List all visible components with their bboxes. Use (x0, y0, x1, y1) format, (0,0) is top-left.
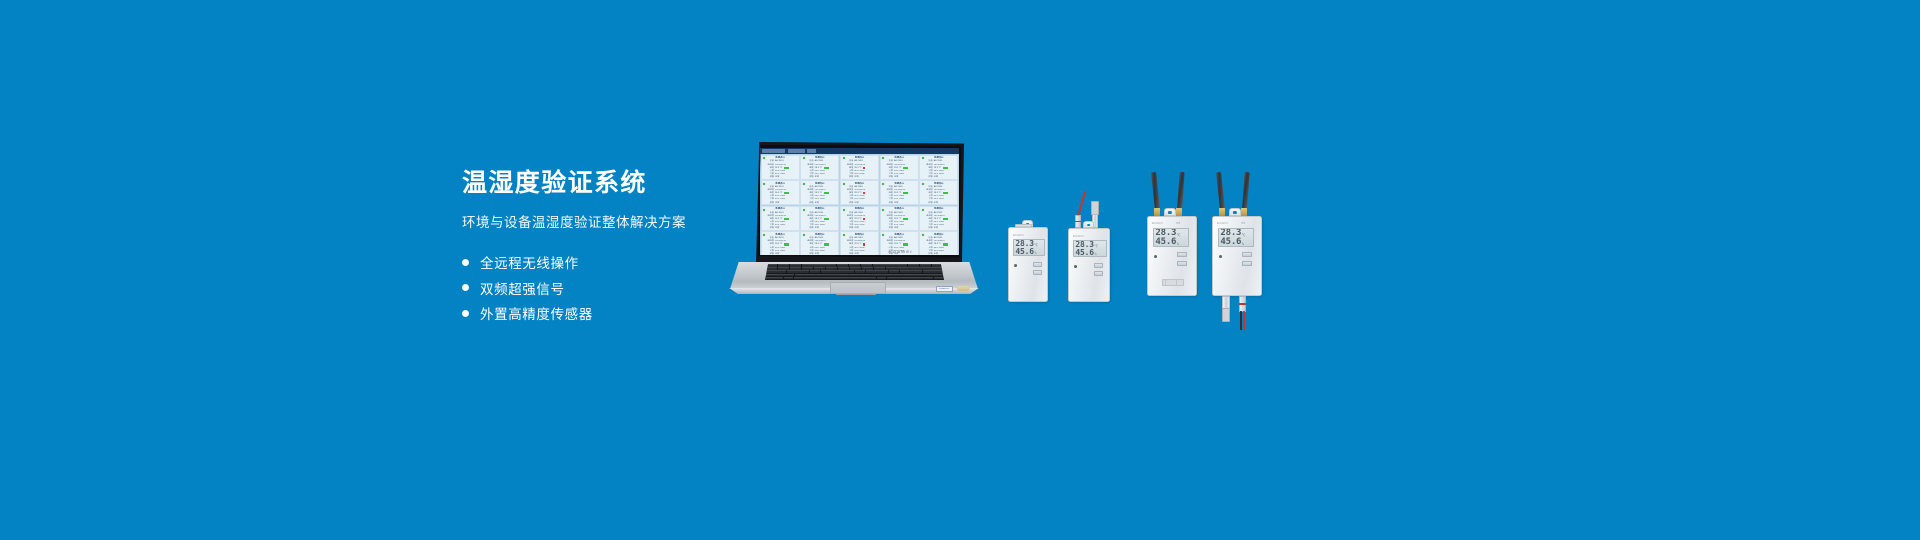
device-card-row-label: 报警 (766, 176, 774, 178)
device-card-row-value: 45.6 %RH (815, 173, 825, 175)
device-card-row-value: A8-TH01 (894, 237, 903, 239)
device-card-row-label: 温湿度 (845, 215, 853, 217)
device-card-row: 报警正常 (806, 201, 837, 204)
device-card-row-value: 60.0 %RH (775, 221, 785, 223)
device-card-rows: 设备A8-TH01温湿度2023/08/14温度28.3 ℃上限60.0 %RH… (763, 186, 797, 205)
device-card-row-value: 28.3 ℃ (815, 218, 822, 220)
status-badge-normal (784, 167, 789, 169)
keyboard-row (766, 277, 943, 280)
device-card-row-label: 温湿度 (806, 189, 814, 191)
device-card-row-label: 温度 (885, 167, 893, 169)
device-card-row-value: 正常 (894, 202, 898, 204)
device-card-row-label: 上限 (766, 221, 774, 223)
device-card-row-label: 下限 (885, 173, 893, 175)
feature-label: 全远程无线操作 (480, 252, 579, 272)
lcd-humidity-line: 45.6 % (1015, 248, 1042, 256)
device-card-title: 监测点01 (855, 157, 864, 159)
device-card-row: 报警正常 (766, 227, 797, 230)
device-card-row-value: 28.3 ℃ (854, 192, 861, 194)
device-card-title: 监测点01 (894, 157, 903, 159)
device-card-row-value: 28.3 ℃ (934, 167, 941, 169)
device-card-row-value: 2023/08/14 (775, 164, 786, 166)
device-card-row: 报警正常 (925, 176, 956, 179)
device-dual-band-logger-vent: ENGIN H8 28.3 ℃ 45.6 % (1147, 170, 1201, 296)
device-card-row-label: 报警 (766, 227, 774, 229)
device-card-title: 监测点01 (775, 183, 784, 185)
status-badge-normal (824, 167, 829, 169)
device-card-row-value: A8-TH01 (775, 237, 784, 239)
device-card-row-value: 45.6 %RH (775, 250, 785, 252)
lcd-humidity-line: 45.6 % (1220, 238, 1251, 247)
antenna-left (1151, 172, 1160, 210)
device-card-title: 监测点01 (815, 183, 824, 185)
laptop-trackpad[interactable] (830, 282, 886, 294)
device-card-row-label: 温度 (925, 167, 933, 169)
antenna-left-base (1154, 208, 1160, 216)
device-card-row-label: 报警 (925, 227, 933, 229)
device-card-title: 监测点01 (775, 234, 784, 236)
device-card[interactable]: 监测点01设备A8-TH01温湿度2023/08/14温度28.3 ℃上限60.… (880, 206, 919, 231)
device-card[interactable]: 监测点01设备A8-TH01温湿度2023/08/14温度28.3 ℃上限60.… (761, 231, 800, 254)
device-card-row-label: 报警 (925, 202, 933, 204)
device-card-row-label: 设备 (806, 212, 814, 214)
device-wireless-logger-internal-sensor: ENGIN 28.3 ℃ 45.6 % (1008, 220, 1048, 302)
device-card-row: 报警正常 (845, 227, 876, 230)
device-card-row-value: 正常 (934, 202, 938, 204)
antenna-right (1177, 172, 1184, 210)
device-card-row: 报警正常 (845, 176, 876, 179)
device-card-row: 报警正常 (925, 227, 956, 230)
device-card-row-label: 上限 (845, 170, 853, 172)
device-button-down[interactable] (1177, 261, 1187, 266)
device-button-down[interactable] (1242, 261, 1252, 266)
device-card-row-value: 45.6 %RH (894, 224, 904, 226)
device-card-row-label: 下限 (925, 173, 933, 175)
device-card[interactable]: 监测点01设备A8-TH01温湿度2023/08/14温度28.3 ℃上限60.… (919, 206, 958, 231)
device-card-row-label: 报警 (885, 227, 893, 229)
sensor-device-group: ENGIN 28.3 ℃ 45.6 % (1000, 170, 1260, 330)
device-card-row-label: 上限 (885, 170, 893, 172)
device-card-row-label: 上限 (925, 170, 933, 172)
device-status-dot-icon (843, 209, 845, 211)
device-body: ENGIN H8 28.3 ℃ 45.6 % (1147, 216, 1197, 296)
device-card-row-label: 设备 (925, 212, 933, 214)
lcd-humidity-unit: % (1094, 253, 1096, 256)
device-card[interactable]: 监测点01设备A8-TH01温湿度2023/08/14温度28.3 ℃上限60.… (919, 155, 958, 180)
lcd-humidity-value: 45.6 (1155, 238, 1176, 247)
device-card-row-value: 60.0 %RH (775, 170, 785, 172)
promo-banner: 温湿度验证系统 环境与设备温湿度验证整体解决方案 全远程无线操作 双频超强信号 … (0, 0, 1920, 540)
keyboard-key[interactable] (896, 277, 913, 280)
device-card-row-value: A8-TH01 (815, 237, 824, 239)
device-card-row-value: A8-TH01 (934, 237, 943, 239)
probe-mesh-filter (1091, 201, 1099, 215)
device-button-up[interactable] (1177, 252, 1187, 257)
device-card-row-label: 温湿度 (885, 164, 893, 166)
device-card-rows: 设备A8-TH01温湿度2023/08/14温度28.3 ℃上限60.0 %RH… (842, 211, 876, 230)
device-card-rows: 设备A8-TH01温湿度2023/08/14温度28.3 ℃上限60.0 %RH… (842, 160, 876, 179)
device-card-row-value: 2023/08/14 (854, 164, 865, 166)
device-status-dot-icon (843, 234, 845, 236)
device-status-led (1219, 255, 1222, 258)
device-button-up[interactable] (1242, 252, 1252, 257)
device-card-row-label: 温湿度 (806, 215, 814, 217)
device-card[interactable]: 监测点01设备A8-TH01温湿度2023/08/14温度28.3 ℃上限60.… (761, 180, 800, 205)
device-brand-label: ENGIN (1073, 234, 1084, 238)
device-card[interactable]: 监测点01设备A8-TH01温湿度2023/08/14温度28.3 ℃上限60.… (919, 180, 958, 205)
device-card-row-label: 温度 (925, 218, 933, 220)
device-card-row-label: 设备 (885, 237, 893, 239)
device-card-row-value: 60.0 %RH (815, 170, 825, 172)
device-card-row: 报警正常 (885, 176, 916, 179)
device-card-row-value: 2023/08/14 (894, 189, 905, 191)
device-card-row-label: 上限 (925, 221, 933, 223)
device-card[interactable]: 监测点01设备A8-TH01温湿度2023/08/14温度28.3 ℃上限60.… (800, 155, 839, 180)
device-card-row: 报警正常 (885, 201, 916, 204)
status-badge-normal (943, 218, 948, 220)
device-card-row-label: 下限 (766, 173, 774, 175)
device-card-row-label: 上限 (885, 221, 893, 223)
probe-right-cable-red (1243, 311, 1245, 330)
device-card-row-label: 下限 (845, 224, 853, 226)
device-card-rows: 设备A8-TH01温湿度2023/08/14温度28.3 ℃上限60.0 %RH… (803, 160, 837, 179)
antenna-left-base (1219, 208, 1225, 216)
keyboard-key[interactable] (914, 277, 923, 280)
device-card-row-value: 2023/08/14 (854, 215, 865, 217)
device-card-rows: 设备A8-TH01温湿度2023/08/14温度28.3 ℃上限60.0 %RH… (922, 186, 956, 205)
device-hanging-loop (1083, 221, 1094, 228)
device-card-row-value: 2023/08/14 (815, 215, 826, 217)
device-card-row-value: 正常 (775, 227, 779, 229)
device-card-title: 监测点01 (894, 208, 903, 210)
device-card-row-value: 正常 (854, 227, 858, 229)
device-lcd-display: 28.3 ℃ 45.6 % (1153, 228, 1189, 247)
device-status-dot-icon (803, 183, 805, 185)
device-card-row-label: 温湿度 (885, 189, 893, 191)
device-card-row-value: A8-TH01 (854, 186, 863, 188)
status-badge-normal (943, 243, 948, 245)
device-card[interactable]: 监测点01设备A8-TH01温湿度2023/08/14温度28.3 ℃上限60.… (800, 206, 839, 231)
device-card-row-value: 2023/08/14 (775, 215, 786, 217)
keyboard-key[interactable] (766, 277, 783, 280)
device-card-row-label: 设备 (925, 186, 933, 188)
device-card[interactable]: 监测点01设备A8-TH01温湿度2023/08/14温度28.3 ℃上限60.… (880, 180, 919, 205)
device-card-row: 报警正常 (766, 176, 797, 179)
device-card-row: 报警正常 (806, 227, 837, 230)
device-card-row-value: A8-TH01 (775, 212, 784, 214)
device-card-row-value: 正常 (934, 176, 938, 178)
device-card-row-value: 45.6 %RH (854, 224, 864, 226)
keyboard-key[interactable] (877, 277, 886, 280)
device-card-row-value: A8-TH01 (854, 212, 863, 214)
keyboard-key[interactable] (934, 277, 943, 280)
device-card-row-value: 正常 (775, 253, 779, 255)
device-card-row-label: 上限 (766, 247, 774, 249)
device-card-row-label: 温度 (806, 192, 814, 194)
device-card-row-label: 温度 (885, 192, 893, 194)
titlebar-user (788, 149, 805, 153)
device-status-led (1014, 264, 1017, 267)
device-card-row-label: 报警 (806, 202, 814, 204)
device-lcd-display: 28.3 ℃ 45.6 % (1073, 240, 1107, 257)
device-card-row-label: 设备 (845, 212, 853, 214)
status-badge-normal (903, 167, 908, 169)
device-model-label: H8 (1241, 221, 1245, 225)
device-card-row-value: A8-TH01 (934, 186, 943, 188)
laptop-product-image: 监测点01设备A8-TH01温湿度2023/08/14温度28.3 ℃上限60.… (718, 142, 990, 298)
device-card-rows: 设备A8-TH01温湿度2023/08/14温度28.3 ℃上限60.0 %RH… (803, 211, 837, 230)
device-dual-band-logger-external-probes: ENGIN H8 28.3 ℃ 45.6 % (1212, 170, 1268, 330)
device-brand-label: ENGIN (1217, 221, 1228, 225)
device-card-row-label: 报警 (806, 227, 814, 229)
device-card-row-label: 温度 (766, 192, 774, 194)
device-card-row-label: 温度 (766, 167, 774, 169)
device-card-row-value: 28.3 ℃ (854, 218, 861, 220)
device-card-row-label: 温湿度 (925, 215, 933, 217)
antenna-left (1216, 172, 1225, 210)
device-card-row-value: 60.0 %RH (894, 170, 904, 172)
device-card-row-value: 60.0 %RH (934, 170, 944, 172)
device-card-row-value: 28.3 ℃ (894, 218, 901, 220)
status-badge-normal (824, 218, 829, 220)
device-card-row-value: A8-TH01 (775, 186, 784, 188)
device-card-row-label: 温湿度 (766, 164, 774, 166)
lcd-humidity-unit: % (1177, 243, 1179, 247)
device-card-row: 报警正常 (885, 227, 916, 230)
device-card-row-label: 温湿度 (766, 189, 774, 191)
laptop-screen-bezel: 监测点01设备A8-TH01温湿度2023/08/14温度28.3 ℃上限60.… (758, 145, 961, 258)
device-card[interactable]: 监测点01设备A8-TH01温湿度2023/08/14温度28.3 ℃上限60.… (761, 206, 800, 231)
device-card-title: 监测点01 (775, 157, 784, 159)
device-card-row-value: A8-TH01 (894, 212, 903, 214)
device-card-row-label: 温度 (845, 218, 853, 220)
device-card-row-label: 下限 (806, 224, 814, 226)
device-card-row-label: 温度 (925, 192, 933, 194)
device-card-rows: 设备A8-TH01温湿度2023/08/14温度28.3 ℃上限60.0 %RH… (922, 160, 956, 179)
device-card-row-label: 温度 (806, 218, 814, 220)
device-card-row-label: 下限 (806, 173, 814, 175)
device-card-row-value: 正常 (815, 202, 819, 204)
device-card-rows: 设备A8-TH01温湿度2023/08/14温度28.3 ℃上限60.0 %RH… (763, 160, 797, 179)
laptop-brand-label: HUAWEI (888, 249, 912, 253)
device-card-row-value: 正常 (894, 176, 898, 178)
device-card-row-value: 正常 (815, 227, 819, 229)
device-card-title: 监测点01 (894, 183, 903, 185)
device-card-row-label: 设备 (885, 186, 893, 188)
device-card-title: 监测点01 (934, 208, 943, 210)
device-card-row-value: 45.6 %RH (815, 224, 825, 226)
lcd-humidity-value: 45.6 (1015, 248, 1033, 256)
probe-cable-red (1077, 191, 1086, 216)
device-card-row-label: 设备 (925, 237, 933, 239)
device-card-row-value: 28.3 ℃ (775, 218, 782, 220)
device-card-row-label: 上限 (806, 221, 814, 223)
device-card-row-label: 上限 (845, 221, 853, 223)
device-card[interactable]: 监测点01设备A8-TH01温湿度2023/08/14温度28.3 ℃上限60.… (880, 155, 919, 180)
device-card-row-label: 下限 (845, 173, 853, 175)
device-card-row-label: 温湿度 (766, 215, 774, 217)
device-card-row-value: 28.3 ℃ (854, 167, 861, 169)
device-card-row-value: 正常 (815, 176, 819, 178)
device-card-row-value: 28.3 ℃ (934, 218, 941, 220)
device-card-row-value: 28.3 ℃ (894, 167, 901, 169)
lcd-humidity-unit: % (1242, 243, 1244, 247)
device-card-row-label: 报警 (845, 202, 853, 204)
device-card-title: 监测点01 (855, 183, 864, 185)
device-card-row: 报警正常 (766, 252, 797, 254)
device-card-row-value: 45.6 %RH (934, 173, 944, 175)
device-card-row-value: 60.0 %RH (854, 170, 864, 172)
lcd-humidity-line: 45.6 % (1155, 238, 1186, 247)
device-brand-label: ENGIN (1013, 233, 1024, 237)
device-card-row-value: 45.6 %RH (894, 173, 904, 175)
device-card[interactable]: 监测点01设备A8-TH01温湿度2023/08/14温度28.3 ℃上限60.… (840, 180, 879, 205)
device-status-dot-icon (922, 183, 924, 185)
lcd-humidity-unit: % (1034, 252, 1036, 255)
device-card-title: 监测点01 (855, 234, 864, 236)
device-card-row-value: 2023/08/14 (815, 189, 826, 191)
device-card-row-value: 正常 (934, 227, 938, 229)
device-card-row-value: 正常 (854, 202, 858, 204)
device-card-row-label: 报警 (885, 202, 893, 204)
keyboard-key[interactable] (784, 277, 793, 280)
device-card-rows: 设备A8-TH01温湿度2023/08/14温度28.3 ℃上限60.0 %RH… (842, 186, 876, 205)
device-card-row-label: 报警 (845, 227, 853, 229)
device-card-row-label: 设备 (845, 237, 853, 239)
device-card[interactable]: 监测点01设备A8-TH01温湿度2023/08/14温度28.3 ℃上限60.… (840, 155, 879, 180)
device-card-row: 报警正常 (925, 201, 956, 204)
device-card-title: 监测点01 (815, 157, 824, 159)
device-card-row-label: 设备 (766, 237, 774, 239)
device-hanging-loop (1164, 208, 1176, 216)
probe-right-cable-black (1240, 311, 1242, 330)
device-card-row-value: 2023/08/14 (775, 189, 786, 191)
titlebar-settings[interactable] (807, 149, 816, 153)
device-card-rows: 设备A8-TH01温湿度2023/08/14温度28.3 ℃上限60.0 %RH… (922, 211, 956, 230)
device-status-dot-icon (803, 209, 805, 211)
device-card-row: 报警正常 (766, 201, 797, 204)
device-card-row-label: 温湿度 (845, 189, 853, 191)
device-card-row-label: 设备 (806, 237, 814, 239)
device-button-up[interactable] (1033, 262, 1042, 267)
device-card[interactable]: 监测点01设备A8-TH01温湿度2023/08/14温度28.3 ℃上限60.… (800, 180, 839, 205)
device-card-row-value: 2023/08/14 (934, 215, 945, 217)
device-card-row-label: 报警 (845, 176, 853, 178)
device-card-title: 监测点01 (855, 208, 864, 210)
device-card-row-label: 报警 (885, 176, 893, 178)
device-card-row-value: 2023/08/14 (894, 164, 905, 166)
device-card-row-label: 温度 (766, 218, 774, 220)
device-card-row-label: 报警 (766, 202, 774, 204)
device-button-down[interactable] (1033, 270, 1042, 275)
device-card-row-value: 60.0 %RH (934, 221, 944, 223)
device-card-row-value: 60.0 %RH (815, 221, 825, 223)
antenna-right-base (1241, 208, 1247, 216)
lcd-humidity-value: 45.6 (1075, 249, 1093, 257)
device-body: ENGIN 28.3 ℃ 45.6 % (1068, 228, 1110, 302)
device-card-row-value: 45.6 %RH (854, 173, 864, 175)
device-card-title: 监测点01 (894, 234, 903, 236)
device-card-row-label: 温湿度 (925, 164, 933, 166)
device-card-row-value: 正常 (775, 202, 779, 204)
status-badge-normal (824, 243, 829, 245)
bullet-dot-icon (462, 310, 469, 317)
device-card-row-value: 正常 (894, 227, 898, 229)
antenna-right (1242, 172, 1249, 210)
device-card-row-value: 45.6 %RH (775, 224, 785, 226)
device-card-row-label: 设备 (766, 186, 774, 188)
device-card-row-value: 28.3 ℃ (815, 167, 822, 169)
device-model-label: H8 (1176, 221, 1180, 225)
probe-right-band (1239, 303, 1246, 305)
device-card-row-value: A8-TH01 (815, 186, 824, 188)
device-wireless-logger-external-probe: ENGIN 28.3 ℃ 45.6 % (1068, 190, 1112, 302)
device-card[interactable]: 监测点01设备A8-TH01温湿度2023/08/14温度28.3 ℃上限60.… (761, 155, 800, 180)
device-card-row-label: 温度 (885, 218, 893, 220)
device-card-row-label: 报警 (925, 176, 933, 178)
device-button-up[interactable] (1094, 263, 1103, 268)
device-card-row-label: 温湿度 (845, 164, 853, 166)
device-card-row-value: 2023/08/14 (815, 164, 826, 166)
device-card-row-label: 设备 (806, 186, 814, 188)
device-body: ENGIN 28.3 ℃ 45.6 % (1008, 227, 1048, 302)
device-lcd-display: 28.3 ℃ 45.6 % (1218, 228, 1254, 247)
device-body: ENGIN H8 28.3 ℃ 45.6 % (1212, 216, 1262, 296)
device-card-row-value: A8-TH01 (934, 212, 943, 214)
device-brand-label: ENGIN (1152, 221, 1163, 225)
device-card-row-label: 温湿度 (806, 164, 814, 166)
device-card-row-value: 60.0 %RH (854, 221, 864, 223)
device-card-title: 监测点01 (934, 234, 943, 236)
device-card-row-value: 2023/08/14 (854, 189, 865, 191)
device-card[interactable]: 监测点01设备A8-TH01温湿度2023/08/14温度28.3 ℃上限60.… (840, 206, 879, 231)
device-button-down[interactable] (1094, 271, 1103, 276)
lcd-humidity-value: 45.6 (1220, 238, 1241, 247)
feature-label: 外置高精度传感器 (480, 303, 593, 323)
device-card-grid: 监测点01设备A8-TH01温湿度2023/08/14温度28.3 ℃上限60.… (760, 154, 959, 255)
bullet-dot-icon (462, 284, 469, 291)
palmrest-sticker-label: ENERGY (939, 288, 949, 290)
device-status-dot-icon (843, 183, 845, 185)
device-card-title: 监测点01 (815, 234, 824, 236)
keyboard-key[interactable] (794, 277, 803, 280)
device-card-row-value: 28.3 ℃ (894, 192, 901, 194)
antenna-right-base (1176, 208, 1182, 216)
device-card-row-label: 下限 (766, 250, 774, 252)
device-status-dot-icon (922, 209, 924, 211)
keyboard-key[interactable] (887, 277, 896, 280)
device-card-row-label: 下限 (885, 224, 893, 226)
device-card-rows: 设备A8-TH01温湿度2023/08/14温度28.3 ℃上限60.0 %RH… (882, 186, 916, 205)
laptop-palmrest-badge (957, 286, 970, 291)
device-card-title: 监测点01 (934, 157, 943, 159)
laptop-keyboard[interactable] (765, 264, 944, 281)
device-card-row-label: 报警 (766, 253, 774, 255)
device-card-title: 监测点01 (934, 183, 943, 185)
device-card-row-value: 正常 (775, 176, 779, 178)
status-badge-normal (943, 167, 948, 169)
device-card-row-value: 45.6 %RH (775, 173, 785, 175)
keyboard-spacebar[interactable] (803, 277, 876, 280)
device-vent-grille (1162, 279, 1184, 286)
monitoring-dashboard-screen: 监测点01设备A8-TH01温湿度2023/08/14温度28.3 ℃上限60.… (760, 148, 959, 255)
device-card-row: 报警正常 (806, 176, 837, 179)
device-card-row-label: 设备 (885, 212, 893, 214)
device-card-rows: 设备A8-TH01温湿度2023/08/14温度28.3 ℃上限60.0 %RH… (803, 186, 837, 205)
device-card-title: 监测点01 (815, 208, 824, 210)
keyboard-key[interactable] (924, 277, 933, 280)
device-card-row-label: 下限 (925, 224, 933, 226)
